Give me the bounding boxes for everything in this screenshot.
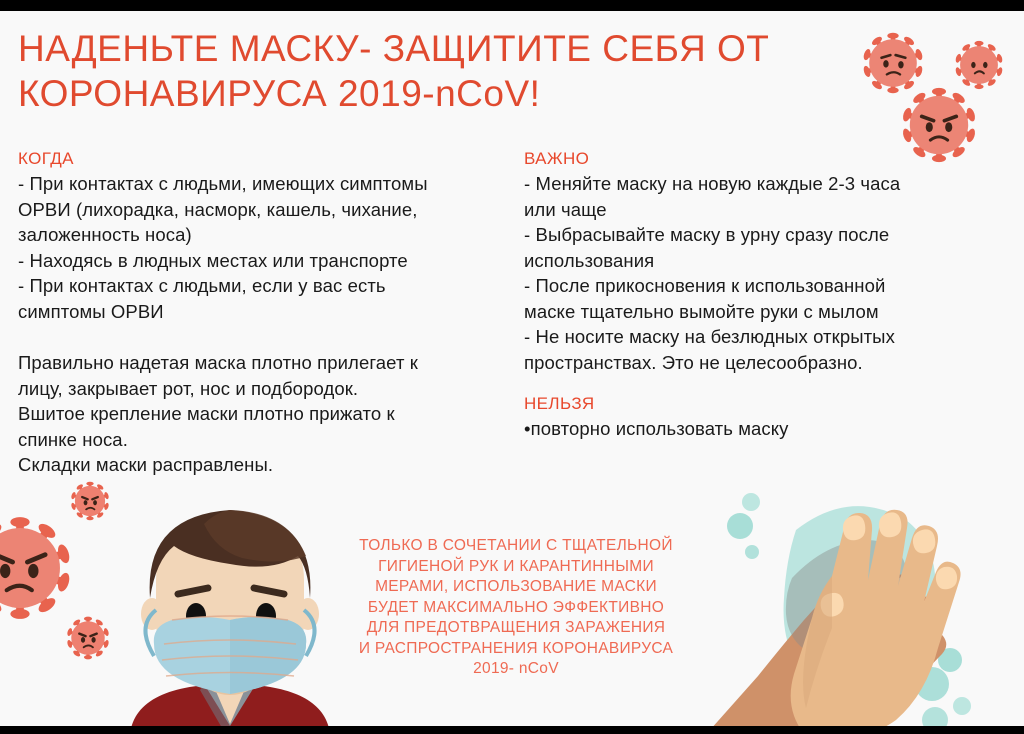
section-heading-vazhno: ВАЖНО: [524, 148, 1004, 170]
right-text-column: ВАЖНО - Меняйте маску на новую каждые 2-…: [524, 148, 1004, 442]
poster-canvas: НАДЕНЬТЕ МАСКУ- ЗАЩИТИТЕ СЕБЯ ОТ КОРОНАВ…: [0, 0, 1024, 734]
page-title: НАДЕНЬТЕ МАСКУ- ЗАЩИТИТЕ СЕБЯ ОТ КОРОНАВ…: [18, 26, 858, 116]
surgical-mask: [154, 616, 306, 694]
section-body-kogda: - При контактах с людьми, имеющих симпто…: [18, 171, 513, 324]
caption-line-1: ТОЛЬКО В СОЧЕТАНИИ С ТЩАТЕЛЬНОЙ: [330, 536, 702, 557]
fingernail: [936, 567, 957, 590]
virus-icon: [0, 517, 71, 619]
caption-line-5: ДЛЯ ПРЕДОТВРАЩЕНИЯ ЗАРАЖЕНИЯ: [330, 618, 702, 639]
spacer: [18, 324, 513, 350]
masked-boy-illustration: [112, 494, 348, 734]
virus-icon: [71, 482, 110, 521]
bottom-black-bar: [0, 726, 1024, 734]
caption-line-4: БУДЕТ МАКСИМАЛЬНО ЭФФЕКТИВНО: [330, 598, 702, 619]
top-black-bar: [0, 0, 1024, 11]
title-line-1: НАДЕНЬТЕ МАСКУ- ЗАЩИТИТЕ СЕБЯ ОТ: [18, 26, 858, 71]
section-body-nelzya: •повторно использовать маску: [524, 416, 1004, 442]
section-heading-kogda: КОГДА: [18, 148, 513, 170]
section-heading-nelzya: НЕЛЬЗЯ: [524, 393, 1004, 415]
virus-icon: [955, 41, 1004, 89]
caption-line-7: 2019- nCoV: [330, 659, 702, 680]
caption-line-2: ГИГИЕНОЙ РУК И КАРАНТИННЫМИ: [330, 557, 702, 578]
mask-fit-instructions: Правильно надетая маска плотно прилегает…: [18, 350, 513, 478]
left-text-column: КОГДА - При контактах с людьми, имеющих …: [18, 148, 513, 478]
virus-icon: [862, 33, 923, 94]
caption-line-3: МЕРАМИ, ИСПОЛЬЗОВАНИЕ МАСКИ: [330, 577, 702, 598]
title-line-2: КОРОНАВИРУСА 2019-nCoV!: [18, 71, 858, 116]
spacer: [524, 375, 1004, 393]
caption-line-6: И РАСПРОСТРАНЕНИЯ КОРОНАВИРУСА: [330, 639, 702, 660]
virus-icon: [66, 617, 109, 660]
bottom-caption: ТОЛЬКО В СОЧЕТАНИИ С ТЩАТЕЛЬНОЙ ГИГИЕНОЙ…: [330, 536, 702, 680]
section-body-vazhno: - Меняйте маску на новую каждые 2-3 часа…: [524, 171, 1004, 375]
handwashing-illustration: [700, 468, 1024, 734]
